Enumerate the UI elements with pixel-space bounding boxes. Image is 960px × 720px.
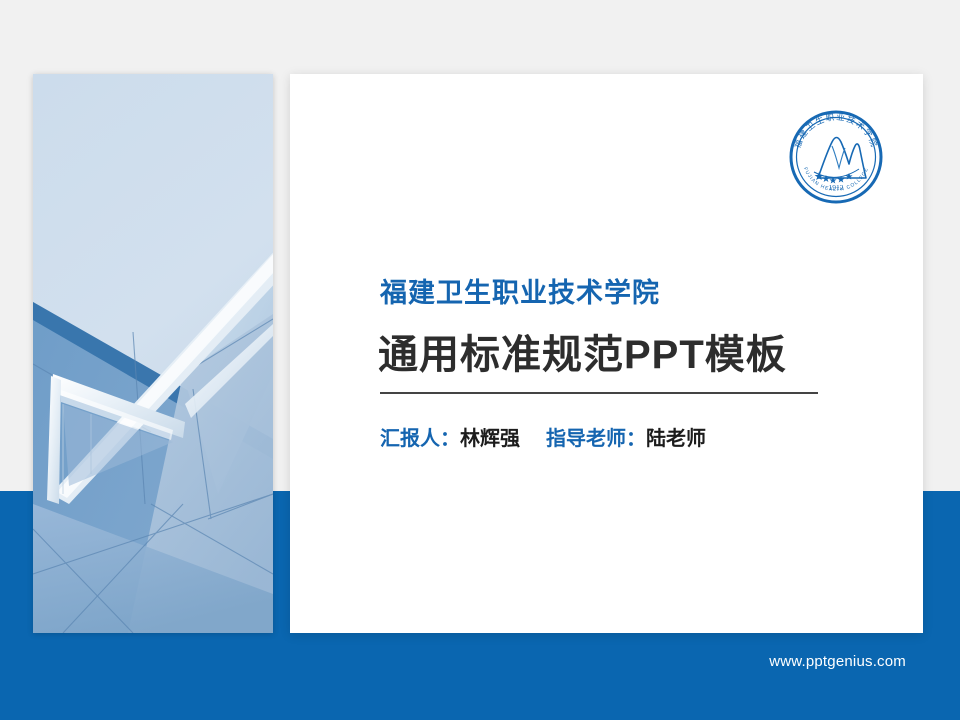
photo-illustration bbox=[33, 74, 273, 633]
presenter-label: 汇报人： bbox=[380, 428, 460, 450]
presenter-name: 林辉强 bbox=[460, 428, 520, 450]
content-card: 1912 福建卫生职业技术学院 FUJIAN HEALTH COLLEGE 福建… bbox=[290, 74, 923, 633]
page-title: 通用标准规范PPT模板 bbox=[378, 322, 787, 380]
school-name: 福建卫生职业技术学院 bbox=[380, 271, 660, 310]
advisor-name: 陆老师 bbox=[646, 428, 706, 450]
advisor-label: 指导老师： bbox=[546, 428, 646, 450]
footer-website: www.pptgenius.com bbox=[769, 653, 906, 670]
title-divider bbox=[380, 392, 818, 394]
fujian-health-college-logo: 1912 福建卫生职业技术学院 FUJIAN HEALTH COLLEGE bbox=[785, 106, 887, 208]
seal-logo-icon: 1912 福建卫生职业技术学院 FUJIAN HEALTH COLLEGE bbox=[785, 106, 887, 208]
architecture-ceiling-photo bbox=[33, 74, 273, 633]
presenter-line: 汇报人：林辉强指导老师：陆老师 bbox=[380, 422, 706, 451]
